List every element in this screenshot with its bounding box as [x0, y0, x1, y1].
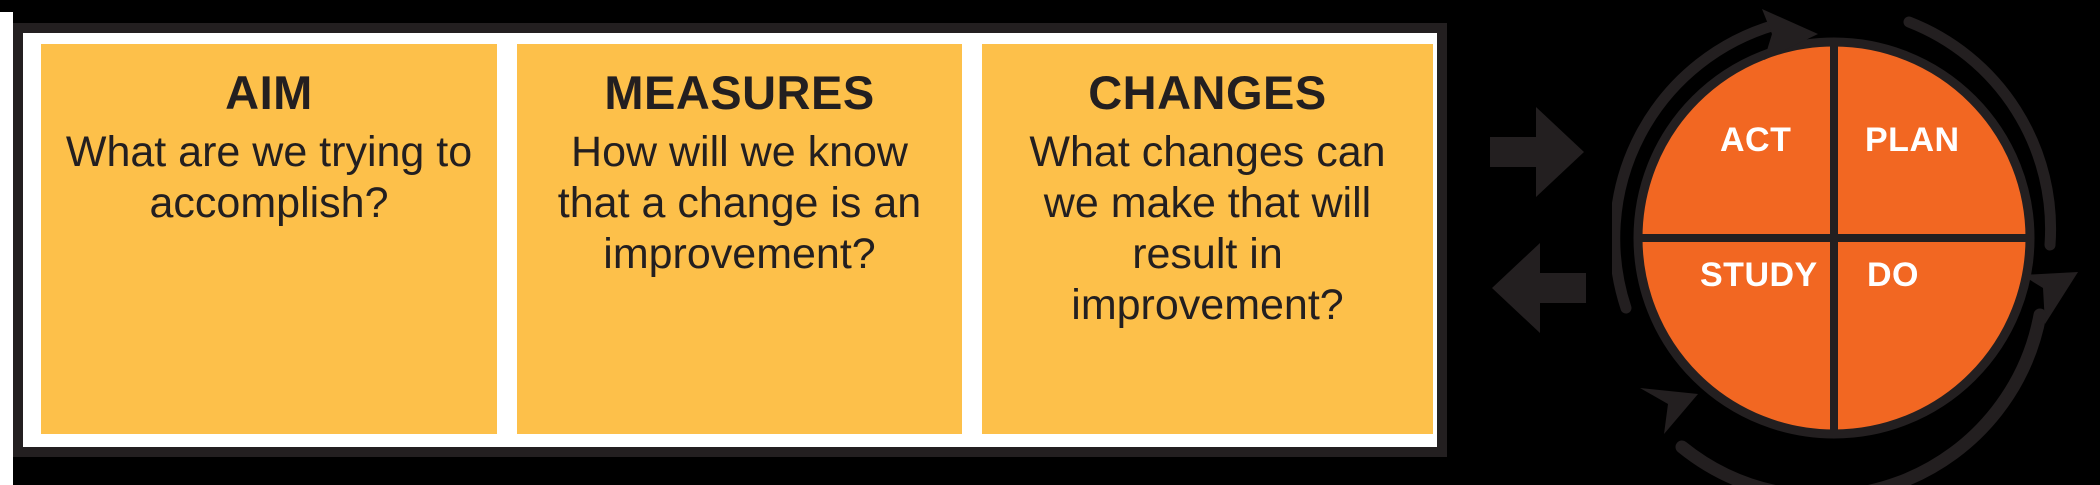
- card-changes-question: What changes can we make that will resul…: [996, 127, 1419, 330]
- card-aim[interactable]: AIM What are we trying to accomplish?: [41, 44, 497, 434]
- pdsa-label-study[interactable]: STUDY: [1700, 256, 1818, 295]
- arrow-right-icon: [1490, 104, 1586, 205]
- model-for-improvement-diagram: AIM What are we trying to accomplish? ME…: [0, 0, 2100, 485]
- questions-row: AIM What are we trying to accomplish? ME…: [41, 44, 1433, 434]
- card-aim-title: AIM: [55, 68, 483, 117]
- pdsa-label-act[interactable]: ACT: [1720, 121, 1791, 160]
- card-measures-question: How will we know that a change is an imp…: [531, 127, 948, 279]
- card-aim-question: What are we trying to accomplish?: [55, 127, 483, 228]
- pdsa-label-plan[interactable]: PLAN: [1865, 121, 1960, 160]
- questions-frame: AIM What are we trying to accomplish? ME…: [13, 23, 1447, 457]
- card-measures-title: MEASURES: [531, 68, 948, 117]
- card-changes-title: CHANGES: [996, 68, 1419, 117]
- pdsa-label-do[interactable]: DO: [1867, 256, 1919, 295]
- bottom-left-edge-strip: [0, 473, 13, 485]
- left-edge-strip: [0, 12, 13, 473]
- card-changes[interactable]: CHANGES What changes can we make that wi…: [982, 44, 1433, 434]
- card-measures[interactable]: MEASURES How will we know that a change …: [517, 44, 962, 434]
- arrow-left-icon: [1490, 240, 1586, 341]
- pdsa-cycle: ACT PLAN STUDY DO: [1612, 0, 2100, 485]
